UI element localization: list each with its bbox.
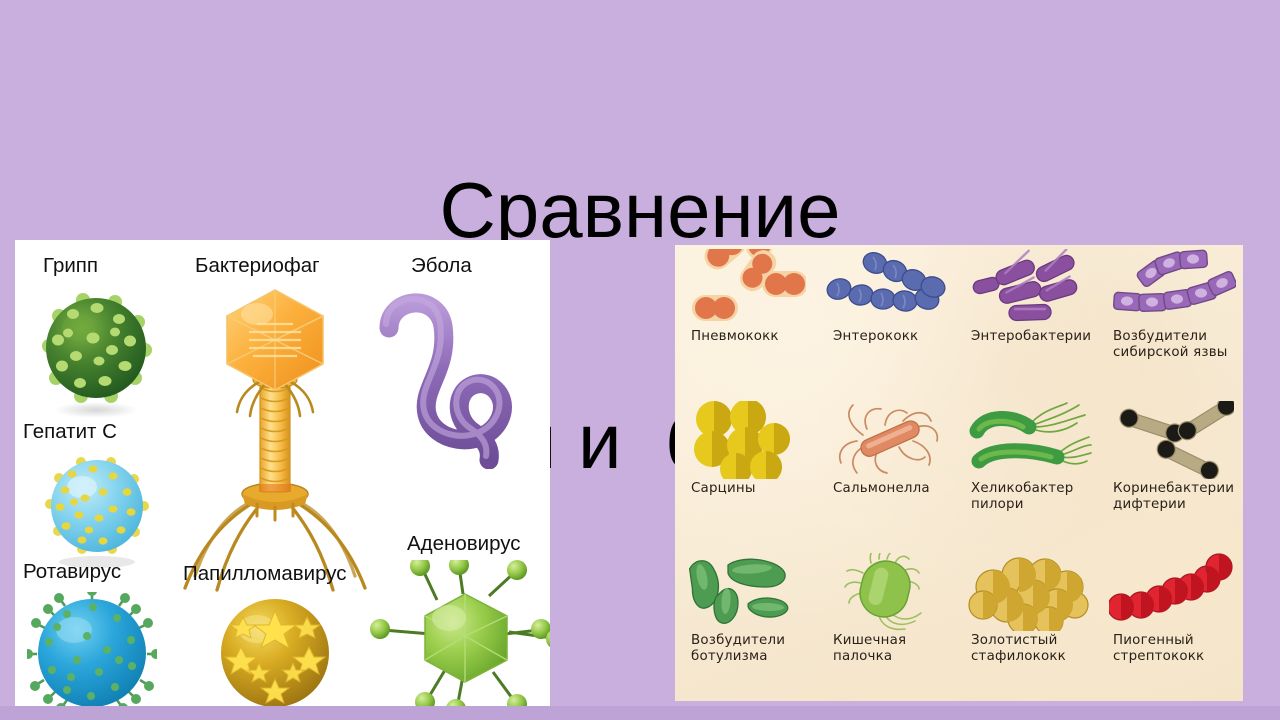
bacteria-cell-anthrax: Возбудители сибирской язвы <box>1101 245 1243 397</box>
clostridia-spindle-icon <box>675 553 817 631</box>
bacilli-chain-icon <box>1101 249 1243 327</box>
streptococci-chain-icon <box>817 249 959 327</box>
virus-label-adenovirus: Аденовирус <box>407 532 521 556</box>
peritrichous-rod-icon <box>817 401 959 479</box>
bacteria-illustration-panel: Пневмококк <box>675 245 1243 701</box>
bacteria-label-enterococcus: Энтерококк <box>821 329 957 345</box>
bacteria-label-pneumococcus: Пневмококк <box>679 329 815 345</box>
rotavirus-icon <box>27 592 157 706</box>
bacteria-cell-ecoli: Кишечная палочка <box>817 549 959 701</box>
bacteria-cell-corynebacteria: Коринебактерии дифтерии <box>1101 397 1243 549</box>
bacteria-label-botulism: Возбудители ботулизма <box>679 633 815 665</box>
virus-label-ebola: Эбола <box>411 254 472 278</box>
helicobacter-curved-rod-icon <box>959 401 1101 479</box>
ebola-filament-icon <box>363 284 550 474</box>
bacteria-label-ecoli: Кишечная палочка <box>821 633 957 665</box>
virus-label-hepatitis-c: Гепатит С <box>23 420 117 444</box>
slide-canvas: Сравнение Вирусы и бактерии Грипп <box>0 0 1280 720</box>
bacteria-cell-botulism: Возбудители ботулизма <box>675 549 817 701</box>
influenza-virus-icon <box>35 288 157 423</box>
bacteriophage-icon <box>165 288 385 603</box>
bacteria-cell-sarcina: Сарцины <box>675 397 817 549</box>
adenovirus-icon <box>367 560 550 706</box>
bacteria-label-salmonella: Сальмонелла <box>821 481 957 497</box>
bacteria-label-enterobacteria: Энтеробактерии <box>963 329 1099 345</box>
virus-label-bacteriophage: Бактериофаг <box>195 254 320 278</box>
club-shaped-rods-icon <box>1101 401 1243 479</box>
bacteria-label-streptococcus-pyogenes: Пиогенный стрептококк <box>1105 633 1241 665</box>
staphylococci-cluster-icon <box>959 553 1101 631</box>
title-line-1: Сравнение <box>0 173 1280 249</box>
bacteria-cell-pneumococcus: Пневмококк <box>675 245 817 397</box>
diplococci-pairs-icon <box>675 249 817 327</box>
bacteria-cell-salmonella: Сальмонелла <box>817 397 959 549</box>
bacteria-label-corynebacteria: Коринебактерии дифтерии <box>1105 481 1241 513</box>
bacteria-grid: Пневмококк <box>675 245 1243 701</box>
bacteria-cell-staphylococcus: Золотистый стафилококк <box>959 549 1101 701</box>
streptococci-red-chain-icon <box>1101 553 1243 631</box>
sarcina-cube-packet-icon <box>675 401 817 479</box>
bacteria-cell-enterococcus: Энтерококк <box>817 245 959 397</box>
virus-label-papillomavirus: Папилломавирус <box>183 562 347 586</box>
rods-scattered-icon <box>959 249 1101 327</box>
bacteria-cell-streptococcus-pyogenes: Пиогенный стрептококк <box>1101 549 1243 701</box>
bacteria-label-staphylococcus: Золотистый стафилококк <box>963 633 1099 665</box>
bottom-accent-strip <box>0 706 1280 720</box>
bacteria-label-sarcina: Сарцины <box>679 481 815 497</box>
viruses-illustration-panel: Грипп <box>15 240 550 706</box>
bacteria-cell-enterobacteria: Энтеробактерии <box>959 245 1101 397</box>
flagellated-rod-icon <box>817 553 959 631</box>
hepatitis-c-virus-icon <box>41 452 153 573</box>
virus-label-rotavirus: Ротавирус <box>23 560 121 584</box>
bacteria-label-helicobacter: Хеликобактер пилори <box>963 481 1099 513</box>
virus-label-influenza: Грипп <box>43 254 98 278</box>
bacteria-cell-helicobacter: Хеликобактер пилори <box>959 397 1101 549</box>
bacteria-label-anthrax: Возбудители сибирской язвы <box>1105 329 1241 361</box>
papillomavirus-icon <box>213 595 337 706</box>
